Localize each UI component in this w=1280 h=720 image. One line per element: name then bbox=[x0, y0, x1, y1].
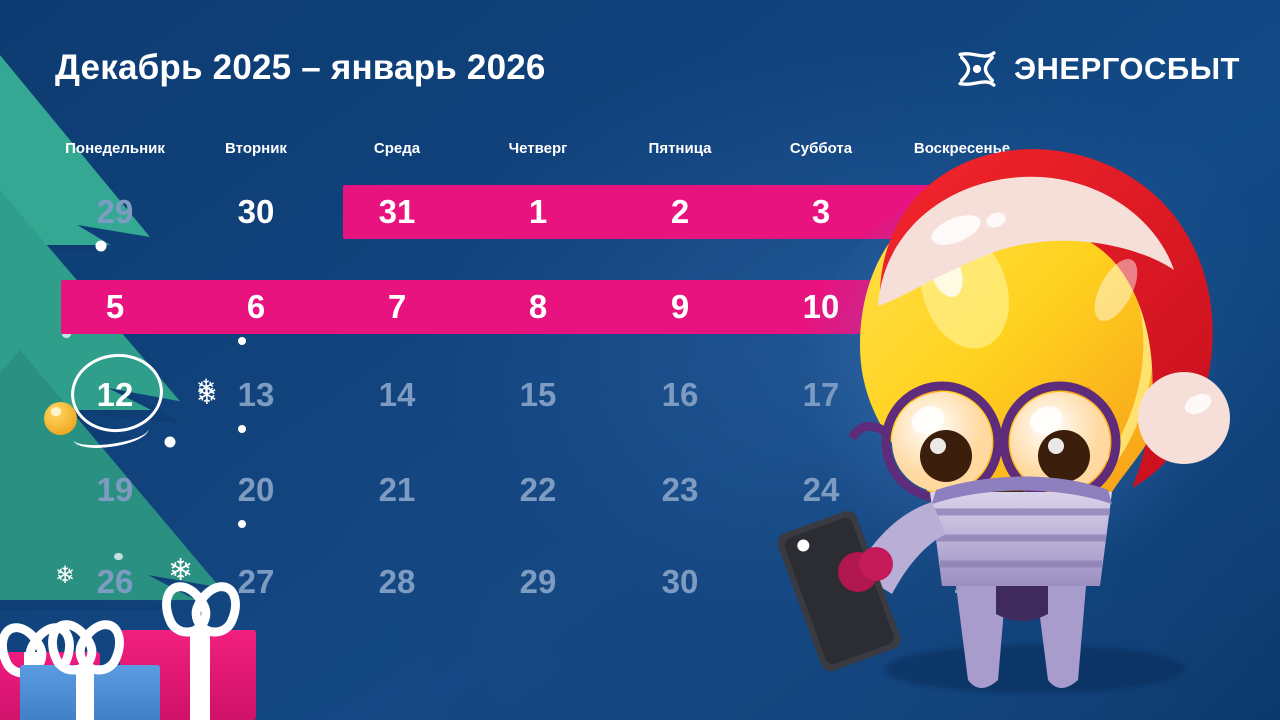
calendar-day-29[interactable]: 29 bbox=[520, 563, 557, 601]
calendar-day-30[interactable]: 30 bbox=[238, 193, 275, 231]
calendar-day-23[interactable]: 23 bbox=[662, 471, 699, 509]
calendar-day-16[interactable]: 16 bbox=[662, 376, 699, 414]
snowflake-icon: ❄ bbox=[55, 564, 75, 588]
weekday-header-4: Четверг bbox=[509, 140, 568, 157]
calendar-day-8[interactable]: 8 bbox=[529, 288, 547, 326]
day-event-dot bbox=[96, 241, 107, 252]
brand-logo[interactable]: ЭНЕРГОСБЫТ bbox=[954, 48, 1240, 90]
calendar-day-7[interactable]: 7 bbox=[388, 288, 406, 326]
calendar-day-5[interactable]: 5 bbox=[106, 288, 124, 326]
calendar-day-13[interactable]: 13 bbox=[238, 376, 275, 414]
weekday-header-3: Среда bbox=[374, 140, 420, 157]
lightbulb-mascot bbox=[760, 120, 1280, 720]
calendar-day-12[interactable]: 12 bbox=[97, 376, 134, 414]
calendar-day-31[interactable]: 31 bbox=[379, 193, 416, 231]
weekday-header-5: Пятница bbox=[649, 140, 712, 157]
calendar-day-2[interactable]: 2 bbox=[671, 193, 689, 231]
calendar-day-21[interactable]: 21 bbox=[379, 471, 416, 509]
page-title: Декабрь 2025 – январь 2026 bbox=[55, 48, 546, 88]
calendar-day-30[interactable]: 30 bbox=[662, 563, 699, 601]
calendar-day-22[interactable]: 22 bbox=[520, 471, 557, 509]
calendar-day-28[interactable]: 28 bbox=[379, 563, 416, 601]
calendar-day-15[interactable]: 15 bbox=[520, 376, 557, 414]
poster-canvas: ❄ ❄ Декабрь 2025 – январь 2026 ЭНЕРГОСБЫ… bbox=[0, 0, 1280, 720]
calendar-day-9[interactable]: 9 bbox=[671, 288, 689, 326]
calendar-day-27[interactable]: 27 bbox=[238, 563, 275, 601]
today-circle-tail bbox=[72, 418, 150, 451]
weekday-header-1: Понедельник bbox=[65, 140, 165, 157]
calendar-day-26[interactable]: 26 bbox=[97, 563, 134, 601]
brand-name: ЭНЕРГОСБЫТ bbox=[1014, 51, 1240, 87]
calendar-day-29[interactable]: 29 bbox=[97, 193, 134, 231]
day-event-dot bbox=[238, 425, 246, 433]
calendar-day-20[interactable]: 20 bbox=[238, 471, 275, 509]
calendar-day-14[interactable]: 14 bbox=[379, 376, 416, 414]
calendar-day-1[interactable]: 1 bbox=[529, 193, 547, 231]
atom-swirl-icon bbox=[954, 48, 1000, 90]
calendar-day-6[interactable]: 6 bbox=[247, 288, 265, 326]
snowflake-icon: ❄ bbox=[196, 377, 216, 401]
day-event-dot bbox=[238, 520, 246, 528]
calendar-day-19[interactable]: 19 bbox=[97, 471, 134, 509]
day-event-dot bbox=[238, 337, 246, 345]
weekday-header-2: Вторник bbox=[225, 140, 287, 157]
